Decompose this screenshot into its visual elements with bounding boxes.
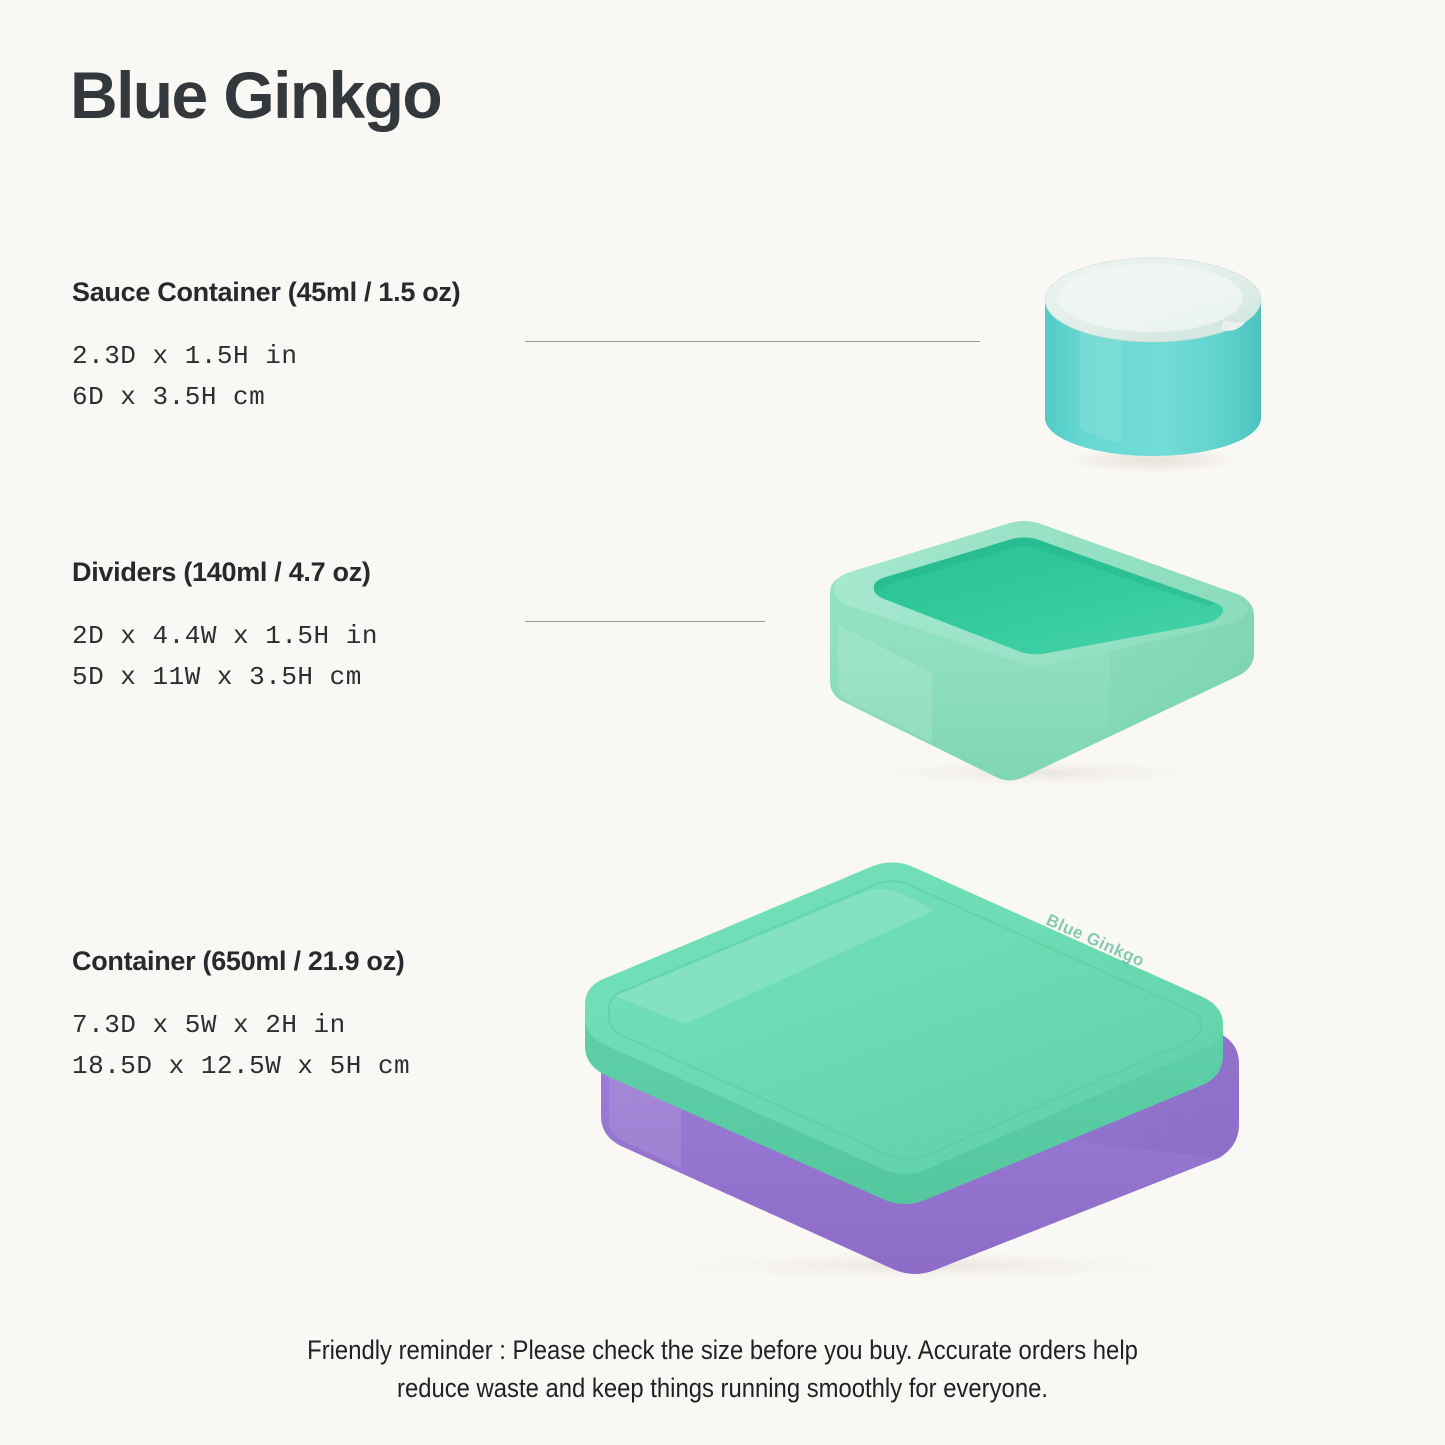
spec-title-dividers: Dividers (140ml / 4.7 oz): [72, 556, 378, 588]
infographic-page: Blue Ginkgo Sauce Container (45ml / 1.5 …: [0, 0, 1445, 1445]
spec-block-dividers: Dividers (140ml / 4.7 oz) 2D x 4.4W x 1.…: [72, 556, 378, 697]
spec-dimension-centimeters: 18.5D x 12.5W x 5H cm: [72, 1046, 410, 1086]
spec-dimensions-dividers: 2D x 4.4W x 1.5H in 5D x 11W x 3.5H cm: [72, 616, 378, 697]
spec-dimension-centimeters: 5D x 11W x 3.5H cm: [72, 657, 378, 697]
sauce-lid-inner: [1059, 264, 1243, 332]
leader-line-dividers: [525, 621, 765, 622]
leader-line-sauce-container: [525, 341, 980, 342]
spec-dimension-inches: 7.3D x 5W x 2H in: [72, 1005, 410, 1045]
footer-disclaimer: Friendly reminder : Please check the siz…: [72, 1332, 1373, 1407]
spec-dimensions-sauce-container: 2.3D x 1.5H in 6D x 3.5H cm: [72, 336, 460, 417]
product-image-sauce-container: [1018, 238, 1288, 488]
footer-line-1: Friendly reminder : Please check the siz…: [72, 1332, 1373, 1370]
product-image-dividers: [812, 505, 1272, 795]
spec-dimension-centimeters: 6D x 3.5H cm: [72, 377, 460, 417]
spec-block-container: Container (650ml / 21.9 oz) 7.3D x 5W x …: [72, 945, 410, 1086]
spec-title-sauce-container: Sauce Container (45ml / 1.5 oz): [72, 276, 460, 308]
footer-line-2: reduce waste and keep things running smo…: [72, 1370, 1373, 1408]
spec-dimension-inches: 2.3D x 1.5H in: [72, 336, 460, 376]
product-image-container: Blue Ginkgo: [505, 828, 1305, 1288]
spec-dimensions-container: 7.3D x 5W x 2H in 18.5D x 12.5W x 5H cm: [72, 1005, 410, 1086]
spec-block-sauce-container: Sauce Container (45ml / 1.5 oz) 2.3D x 1…: [72, 276, 460, 417]
spec-title-container: Container (650ml / 21.9 oz): [72, 945, 410, 977]
brand-wordmark: Blue Ginkgo: [70, 62, 441, 128]
spec-dimension-inches: 2D x 4.4W x 1.5H in: [72, 616, 378, 656]
